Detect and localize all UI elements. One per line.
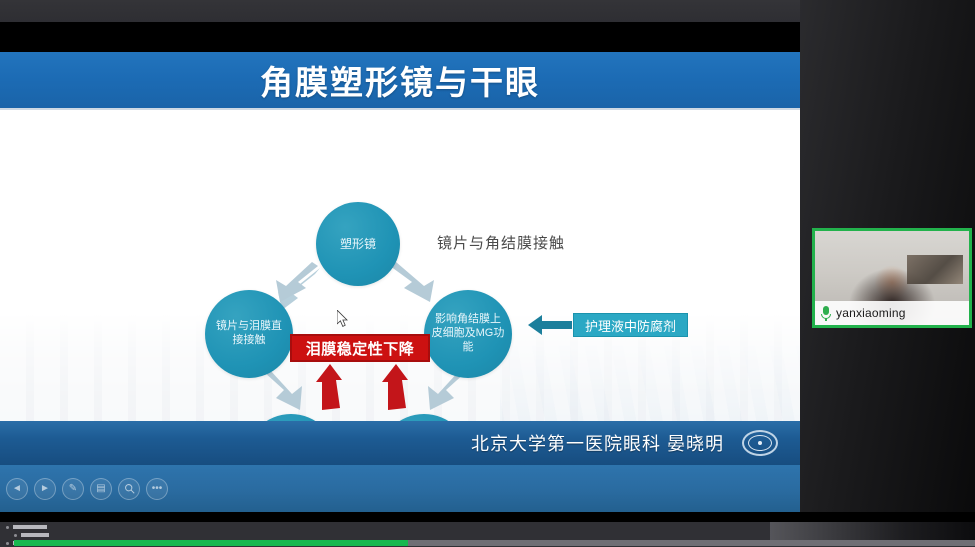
list-item: [6, 531, 116, 539]
diagram-node-left: 镜片与泪膜直接接触: [205, 290, 293, 378]
zoom-button[interactable]: [118, 478, 140, 500]
slide-title-bar: 角膜塑形镜与干眼: [0, 52, 800, 110]
progress-bar-fill: [14, 540, 408, 546]
diagram-node-top-label: 塑形镜: [340, 237, 376, 252]
participant-video-tile[interactable]: yanxiaoming: [812, 228, 972, 328]
list-item: [6, 523, 116, 531]
slide-footer: 北京大学第一医院眼科 晏晓明: [0, 421, 800, 465]
next-slide-button[interactable]: ►: [34, 478, 56, 500]
diagram-node-top: 塑形镜: [316, 202, 400, 286]
letterbox-bottom: [0, 512, 975, 522]
diagram-node-right: 影响角结膜上皮细胞及MG功能: [424, 290, 512, 378]
pen-tool-button[interactable]: ✎: [62, 478, 84, 500]
mouse-cursor-icon: [337, 310, 349, 328]
conclusion-red-box: 泪膜稳定性下降: [290, 334, 430, 362]
callout-left-arrow-icon: [528, 312, 572, 338]
slide-title: 角膜塑形镜与干眼: [260, 56, 540, 104]
participant-name-bar: yanxiaoming: [815, 301, 969, 325]
red-arrow-left: [316, 364, 346, 414]
preservative-callout: 护理液中防腐剂: [573, 313, 688, 337]
slide-footer-text: 北京大学第一医院眼科 晏晓明: [471, 430, 724, 456]
red-arrow-right: [380, 364, 410, 414]
slide-body: 塑形镜 镜片与泪膜直接接触 影响角结膜上皮细胞及MG功能 破坏泪膜与上皮微绒毛的…: [0, 112, 800, 465]
slide-thumbnails-button[interactable]: ▤: [90, 478, 112, 500]
participant-name: yanxiaoming: [836, 306, 906, 320]
diagram-node-left-label: 镜片与泪膜直接接触: [211, 320, 287, 348]
background-wall-picture: [907, 255, 962, 283]
more-options-button[interactable]: •••: [146, 478, 168, 500]
screen-root: 角膜塑形镜与干眼: [0, 0, 975, 547]
presentation-slide[interactable]: 角膜塑形镜与干眼: [0, 52, 800, 465]
presenter-toolbar[interactable]: ◄ ► ✎ ▤ •••: [0, 465, 800, 512]
previous-slide-button[interactable]: ◄: [6, 478, 28, 500]
hospital-logo-icon: [740, 428, 780, 458]
slide-side-label: 镜片与角结膜接触: [437, 232, 565, 253]
letterbox-top: [0, 22, 800, 52]
diagram-node-right-label: 影响角结膜上皮细胞及MG功能: [430, 313, 506, 354]
microphone-icon[interactable]: [821, 306, 831, 321]
magnifier-icon: [124, 483, 135, 494]
